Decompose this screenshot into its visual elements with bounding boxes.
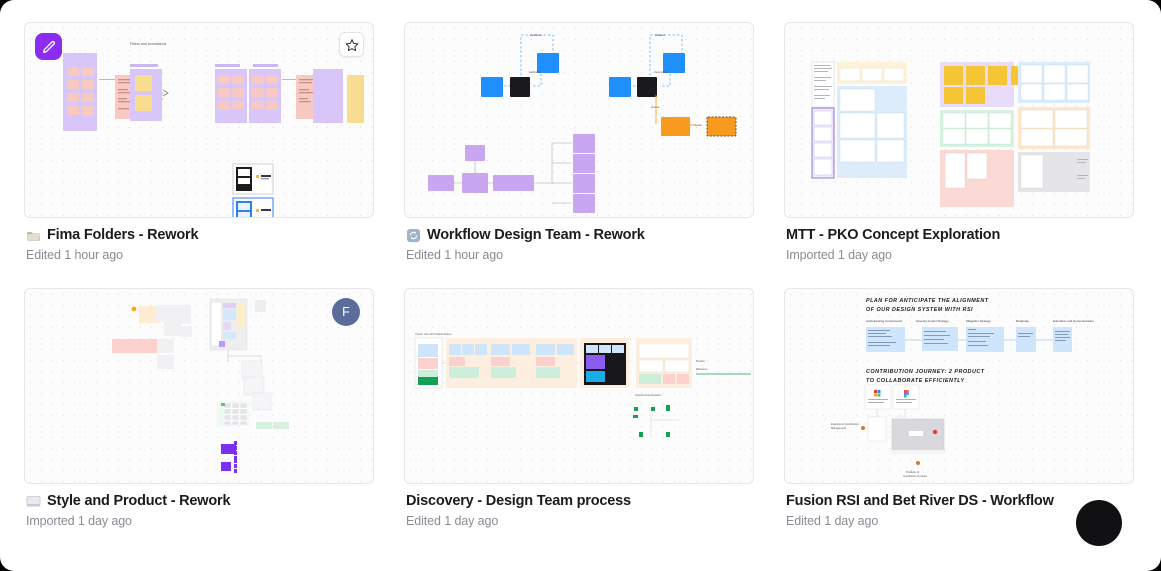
heading-1-line-2: OF OUR DESIGN SYSTEM WITH RSI: [866, 307, 973, 313]
svg-text:Audit Existing Components: Audit Existing Components: [866, 319, 903, 323]
board-status: Imported 1 day ago: [786, 248, 1132, 262]
folder-icon: [26, 228, 41, 243]
board-meta: Workflow Design Team - Rework Edited 1 h…: [404, 218, 754, 262]
svg-text:Education and Communication: Education and Communication: [1053, 319, 1094, 323]
board-title: Style and Product - Rework: [47, 493, 230, 509]
svg-text:conditional: conditional: [530, 34, 542, 37]
heading-2-line-2: TO COLLABORATE EFFICIENTLY: [866, 378, 965, 384]
board-grid: Filters and annotations: [24, 22, 1137, 528]
board-status: Imported 1 day ago: [26, 514, 372, 528]
fusion-rsi-board-preview: PLAN FOR ANTICIPATE THE ALIGNMENT OF OUR…: [785, 289, 1133, 483]
svg-text:Severity Impact Strategy: Severity Impact Strategy: [916, 319, 949, 323]
board-status: Edited 1 day ago: [406, 514, 752, 528]
board-meta: MTT - PKO Concept Exploration Imported 1…: [784, 218, 1134, 262]
svg-text:check status: check status: [654, 71, 668, 74]
board-title: Discovery - Design Team process: [406, 493, 631, 509]
board-thumbnail[interactable]: [784, 22, 1134, 218]
refresh-square-icon: [406, 228, 421, 243]
board-title-row: Discovery - Design Team process: [406, 493, 752, 509]
board-meta: Discovery - Design Team process Edited 1…: [404, 484, 754, 528]
board-status: Edited 1 hour ago: [26, 248, 372, 262]
board-title: Fusion RSI and Bet River DS - Workflow: [786, 493, 1054, 509]
svg-text:Example of Contribution: Example of Contribution: [831, 422, 859, 426]
svg-text:Outcome Documentation: Outcome Documentation: [635, 394, 662, 397]
svg-text:validated: validated: [655, 34, 665, 37]
discovery-process-board-preview: Check Use with Stakeholders: [405, 289, 753, 483]
svg-text:Roadmap: Roadmap: [1016, 319, 1029, 323]
board-thumbnail[interactable]: conditional verification validated check…: [404, 22, 754, 218]
svg-text:process: process: [651, 106, 660, 109]
svg-text:Management: Management: [831, 426, 846, 430]
svg-text:verification: verification: [529, 71, 541, 74]
board-card[interactable]: conditional verification validated check…: [404, 22, 754, 262]
svg-text:Milestones: Milestones: [696, 368, 708, 371]
board-title-row: MTT - PKO Concept Exploration: [786, 227, 1132, 243]
svg-text:Filters and annotations: Filters and annotations: [130, 42, 167, 46]
app-window: Filters and annotations: [0, 0, 1161, 571]
board-meta: Fima Folders - Rework Edited 1 hour ago: [24, 218, 374, 262]
fima-folders-board-preview: Filters and annotations: [25, 23, 373, 217]
board-thumbnail[interactable]: [24, 288, 374, 484]
svg-text:contribution involved: contribution involved: [903, 474, 927, 478]
board-title-row: Workflow Design Team - Rework: [406, 227, 752, 243]
favorite-star-button[interactable]: [339, 32, 364, 57]
board-title-row: Fusion RSI and Bet River DS - Workflow: [786, 493, 1132, 509]
board-title-row: Fima Folders - Rework: [26, 227, 372, 243]
avatar[interactable]: F: [332, 298, 360, 326]
board-thumbnail[interactable]: Filters and annotations: [24, 22, 374, 218]
board-title: Fima Folders - Rework: [47, 227, 198, 243]
heading-1-line-1: PLAN FOR ANTICIPATE THE ALIGNMENT: [866, 298, 989, 304]
svg-text:Mitigation Strategy: Mitigation Strategy: [966, 319, 991, 323]
board-card[interactable]: Style and Product - Rework Imported 1 da…: [24, 288, 374, 528]
board-card[interactable]: PLAN FOR ANTICIPATE THE ALIGNMENT OF OUR…: [784, 288, 1134, 528]
board-title-row: Style and Product - Rework: [26, 493, 372, 509]
workflow-diagram-preview: conditional verification validated check…: [405, 23, 753, 217]
board-status: Edited 1 hour ago: [406, 248, 752, 262]
svg-text:review: review: [695, 124, 702, 127]
pko-concept-board-preview: [785, 23, 1133, 217]
board-card[interactable]: Check Use with Stakeholders: [404, 288, 754, 528]
board-title: Workflow Design Team - Rework: [427, 227, 645, 243]
board-thumbnail[interactable]: Check Use with Stakeholders: [404, 288, 754, 484]
svg-text:Timeline: Timeline: [696, 360, 706, 363]
svg-text:Products of: Products of: [906, 470, 919, 474]
svg-text:Check Use with Stakeholders: Check Use with Stakeholders: [415, 332, 452, 336]
style-product-board-preview: [25, 289, 373, 483]
pen-badge-icon: [35, 33, 62, 60]
board-meta: Style and Product - Rework Imported 1 da…: [24, 484, 374, 528]
help-button[interactable]: [1076, 500, 1122, 546]
board-thumbnail[interactable]: PLAN FOR ANTICIPATE THE ALIGNMENT OF OUR…: [784, 288, 1134, 484]
board-title: MTT - PKO Concept Exploration: [786, 227, 1000, 243]
board-card[interactable]: Filters and annotations: [24, 22, 374, 262]
screen-icon: [26, 494, 41, 509]
board-card[interactable]: MTT - PKO Concept Exploration Imported 1…: [784, 22, 1134, 262]
heading-2-line-1: CONTRIBUTION JOURNEY: 2 PRODUCT: [866, 369, 985, 375]
